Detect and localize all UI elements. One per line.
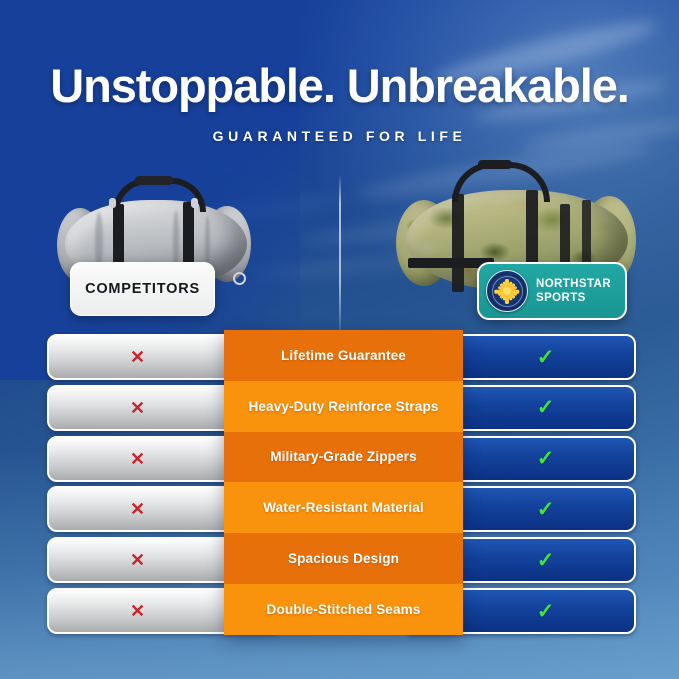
handle-clip (109, 198, 116, 208)
competitors-label-chip: COMPETITORS (70, 262, 215, 316)
check-icon: ✓ (537, 448, 555, 469)
cross-icon: ✕ (130, 500, 145, 518)
handle-grip (478, 160, 512, 169)
vertical-divider (339, 176, 341, 331)
cross-icon: ✕ (130, 399, 145, 417)
feature-label: Military-Grade Zippers (270, 449, 416, 464)
feature-cell: Military-Grade Zippers (224, 432, 463, 483)
feature-cell: Water-Resistant Material (224, 482, 463, 533)
cross-icon: ✕ (130, 348, 145, 366)
competitors-label: COMPETITORS (85, 281, 200, 297)
cross-icon: ✕ (130, 602, 145, 620)
feature-label: Spacious Design (288, 551, 399, 566)
page-subtitle: GUARANTEED FOR LIFE (0, 128, 679, 144)
feature-label: Lifetime Guarantee (281, 348, 406, 363)
check-icon: ✓ (537, 397, 555, 418)
feature-cell: Heavy-Duty Reinforce Straps (224, 381, 463, 432)
page-title: Unstoppable. Unbreakable. (0, 58, 679, 113)
check-icon: ✓ (537, 347, 555, 368)
check-icon: ✓ (537, 601, 555, 622)
northstar-brand-badge: NORTHSTAR SPORTS (477, 262, 627, 320)
bag-d-ring (233, 272, 246, 285)
feature-label: Heavy-Duty Reinforce Straps (248, 399, 438, 414)
brand-line-1: NORTHSTAR (536, 277, 611, 291)
feature-label: Double-Stitched Seams (267, 602, 421, 617)
product-comparison-banner: Unstoppable. Unbreakable. GUARANTEED FOR… (0, 0, 679, 679)
handle-clip (191, 198, 198, 208)
comparison-table: ✕✓✕✓✕✓✕✓✕✓✕✓ Lifetime GuaranteeHeavy-Dut… (0, 330, 679, 640)
feature-cell: Lifetime Guarantee (224, 330, 463, 381)
brand-line-2: SPORTS (536, 291, 611, 305)
check-icon: ✓ (537, 550, 555, 571)
handle-grip (135, 176, 173, 185)
bag-strap (452, 194, 464, 292)
feature-cell: Spacious Design (224, 533, 463, 584)
feature-label: Water-Resistant Material (263, 500, 424, 515)
northstar-brand-name: NORTHSTAR SPORTS (536, 277, 611, 306)
compass-star-icon (486, 270, 528, 312)
cross-icon: ✕ (130, 551, 145, 569)
feature-column: Lifetime GuaranteeHeavy-Duty Reinforce S… (224, 330, 463, 635)
cross-icon: ✕ (130, 450, 145, 468)
check-icon: ✓ (537, 499, 555, 520)
feature-cell: Double-Stitched Seams (224, 584, 463, 635)
